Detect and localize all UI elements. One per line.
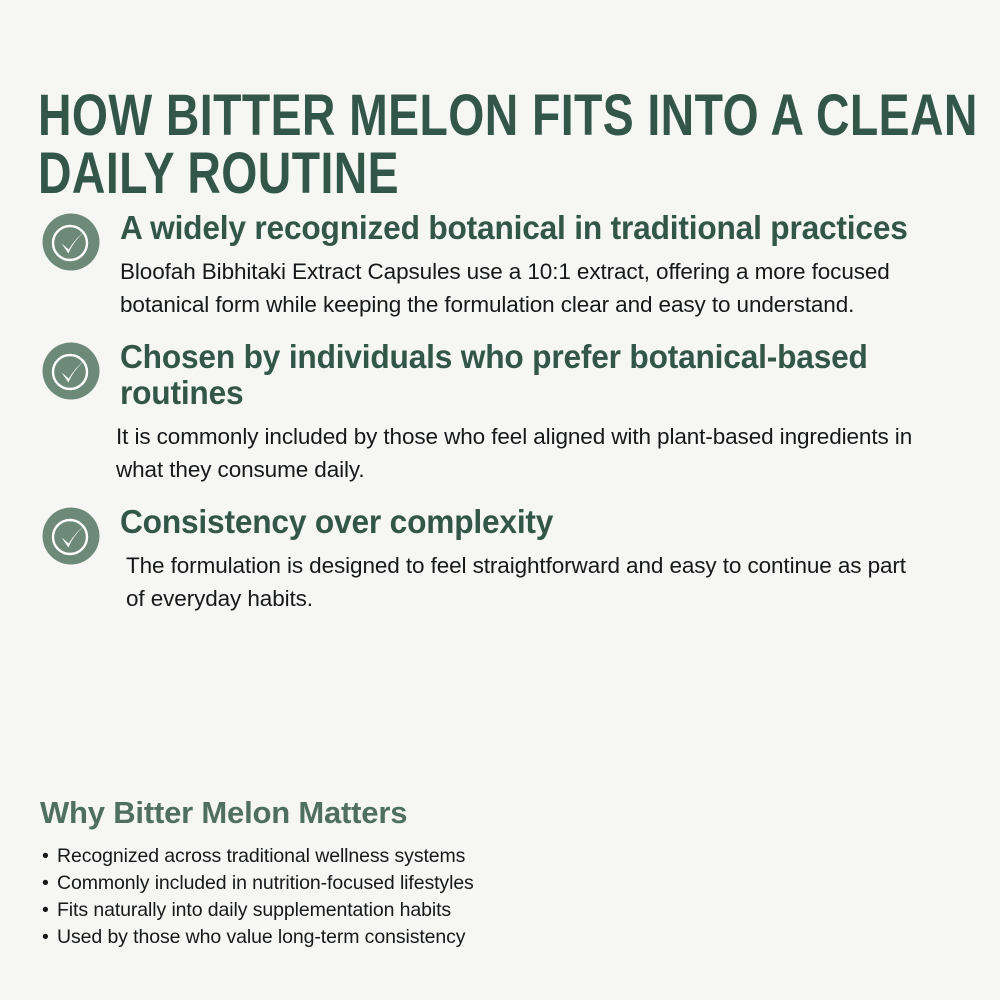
feature-item: Chosen by individuals who prefer botanic… [0,337,1000,486]
why-section: Why Bitter Melon Matters • Recognized ac… [40,795,960,951]
bullet-icon: • [42,897,49,924]
bullet-icon: • [42,924,49,951]
check-circle-icon [42,213,100,271]
list-item-label: Fits naturally into daily supplementatio… [57,899,451,921]
feature-list: A widely recognized botanical in traditi… [0,208,1000,615]
bullet-icon: • [42,843,49,870]
feature-heading: Chosen by individuals who prefer botanic… [120,337,965,411]
bullet-icon: • [42,870,49,897]
list-item: • Commonly included in nutrition-focused… [40,870,960,897]
page-title: HOW BITTER MELON FITS INTO A CLEAN DAILY… [38,87,758,203]
feature-heading: A widely recognized botanical in traditi… [120,208,965,246]
list-item: • Fits naturally into daily supplementat… [40,897,960,924]
page-title-line-2: DAILY ROUTINE [38,145,758,203]
list-item-label: Used by those who value long-term consis… [57,926,465,948]
page-title-line-1: HOW BITTER MELON FITS INTO A CLEAN [38,87,758,145]
feature-item: A widely recognized botanical in traditi… [0,208,1000,321]
feature-body: Bloofah Bibhitaki Extract Capsules use a… [120,255,1000,321]
why-section-list: • Recognized across traditional wellness… [40,843,960,951]
why-section-title: Why Bitter Melon Matters [40,795,960,831]
feature-heading: Consistency over complexity [120,502,965,540]
list-item: • Used by those who value long-term cons… [40,924,960,951]
feature-body: It is commonly included by those who fee… [116,420,1000,486]
list-item: • Recognized across traditional wellness… [40,843,960,870]
feature-item: Consistency over complexity The formulat… [0,502,1000,615]
feature-body: The formulation is designed to feel stra… [126,549,1000,615]
check-circle-icon [42,342,100,400]
infographic-page: HOW BITTER MELON FITS INTO A CLEAN DAILY… [0,0,1000,1000]
list-item-label: Commonly included in nutrition-focused l… [57,872,474,894]
list-item-label: Recognized across traditional wellness s… [57,845,465,867]
check-circle-icon [42,507,100,565]
